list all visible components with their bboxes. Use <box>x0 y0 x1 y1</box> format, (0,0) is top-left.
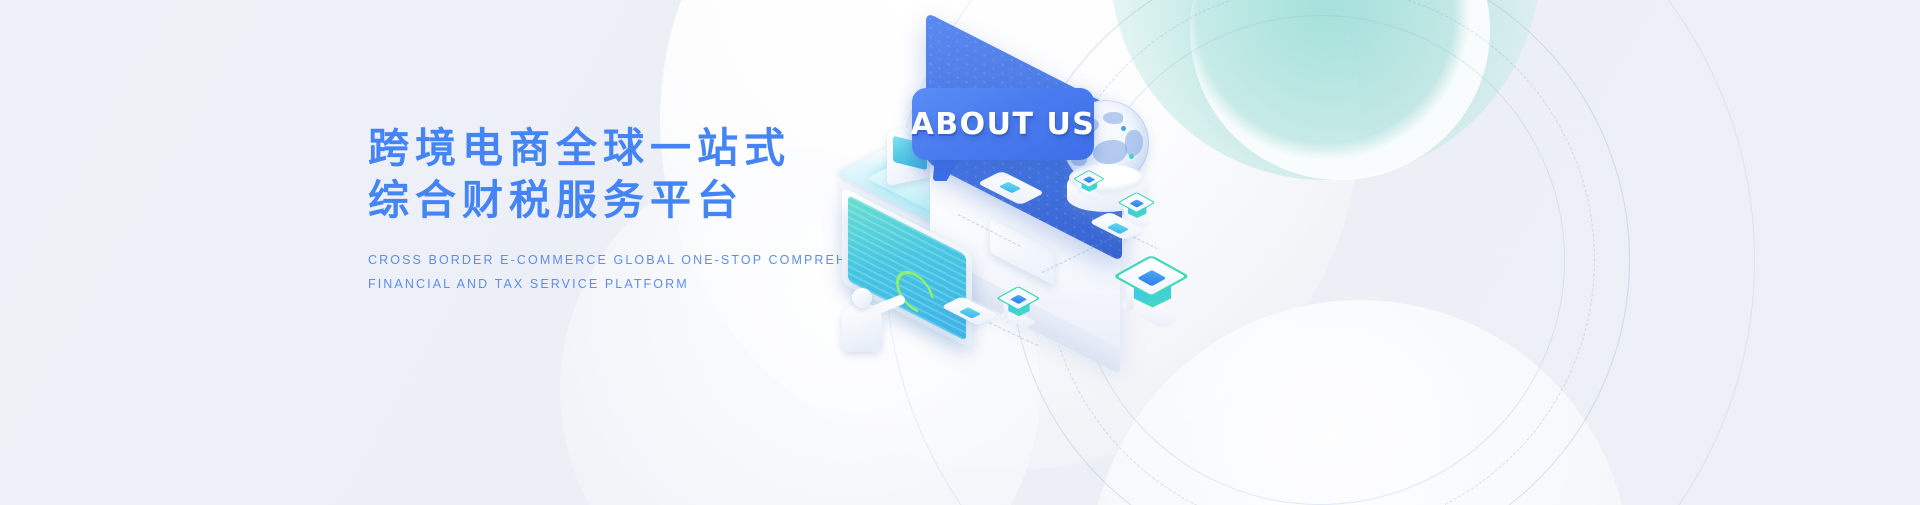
hero-illustration: ABOUT US <box>830 0 1430 505</box>
page-subtitle-line-1: CROSS BORDER E-COMMERCE GLOBAL ONE-STOP … <box>368 248 888 272</box>
about-us-badge-label: ABOUT US <box>912 88 1094 160</box>
page-title-line-1: 跨境电商全球一站式 <box>368 125 791 171</box>
headline-block: 跨境电商全球一站式 综合财税服务平台 CROSS BORDER E-COMMER… <box>368 122 888 296</box>
about-us-banner: 跨境电商全球一站式 综合财税服务平台 CROSS BORDER E-COMMER… <box>0 0 1920 505</box>
person-head-icon <box>852 288 872 308</box>
page-title-line-2: 综合财税服务平台 <box>368 174 888 226</box>
page-title: 跨境电商全球一站式 综合财税服务平台 <box>368 122 888 226</box>
page-subtitle-line-2: FINANCIAL AND TAX SERVICE PLATFORM <box>368 272 888 296</box>
page-subtitle: CROSS BORDER E-COMMERCE GLOBAL ONE-STOP … <box>368 248 888 296</box>
